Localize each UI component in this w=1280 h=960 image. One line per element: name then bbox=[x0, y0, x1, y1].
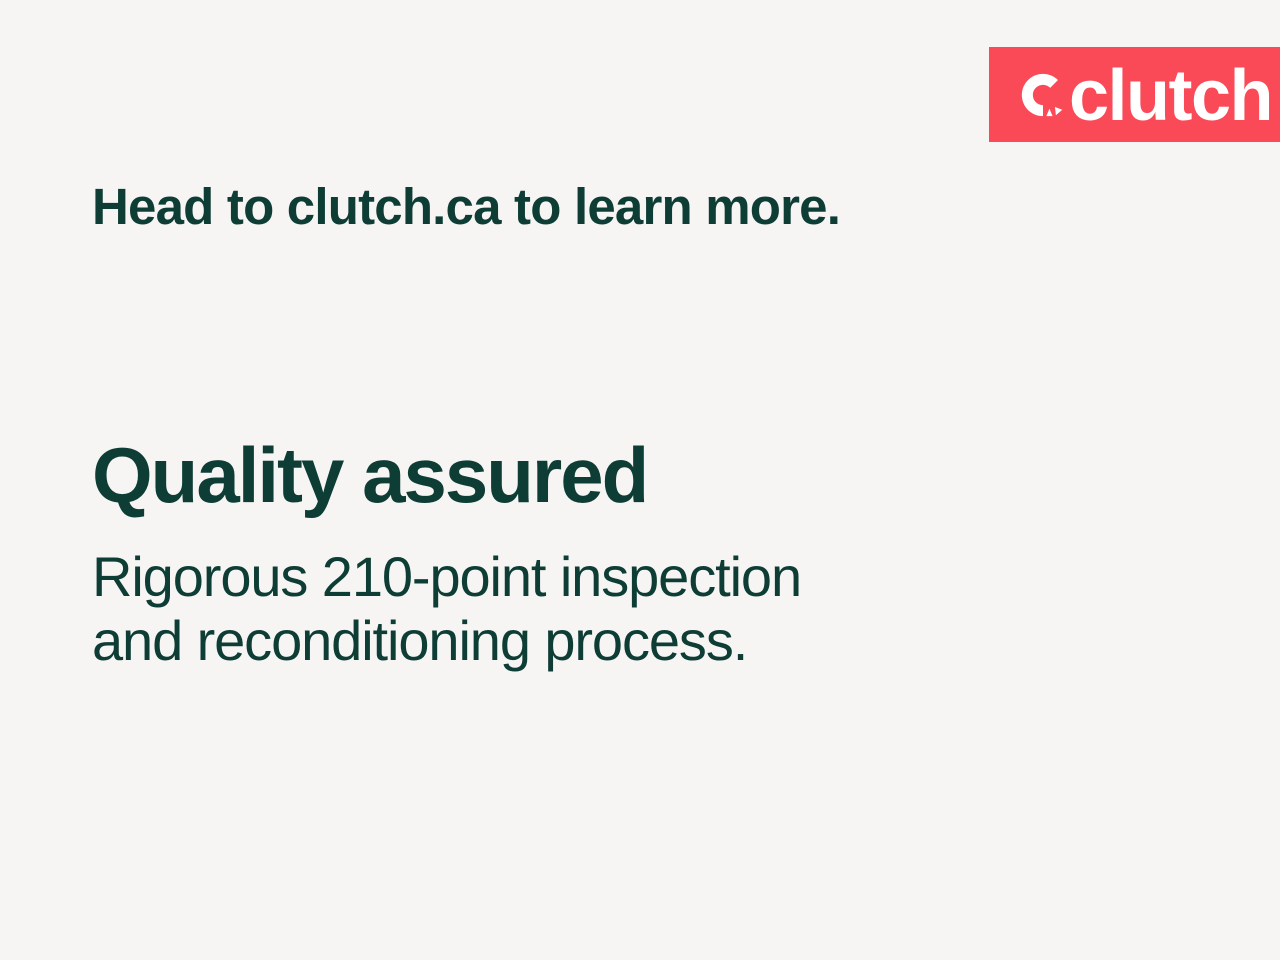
slide-canvas: clutch Head to clutch.ca to learn more. … bbox=[0, 0, 1280, 960]
clutch-c-mark-icon bbox=[1020, 72, 1066, 118]
clutch-logo[interactable]: clutch bbox=[1020, 59, 1272, 131]
subcopy-line: and reconditioning process. bbox=[92, 609, 801, 673]
page-title: Quality assured bbox=[92, 436, 647, 514]
clutch-wordmark: clutch bbox=[1069, 60, 1272, 132]
subcopy-block: Rigorous 210-point inspection and recond… bbox=[92, 545, 801, 673]
brand-banner[interactable]: clutch bbox=[989, 47, 1280, 142]
kicker-text: Head to clutch.ca to learn more. bbox=[92, 181, 840, 232]
subcopy-line: Rigorous 210-point inspection bbox=[92, 545, 801, 609]
